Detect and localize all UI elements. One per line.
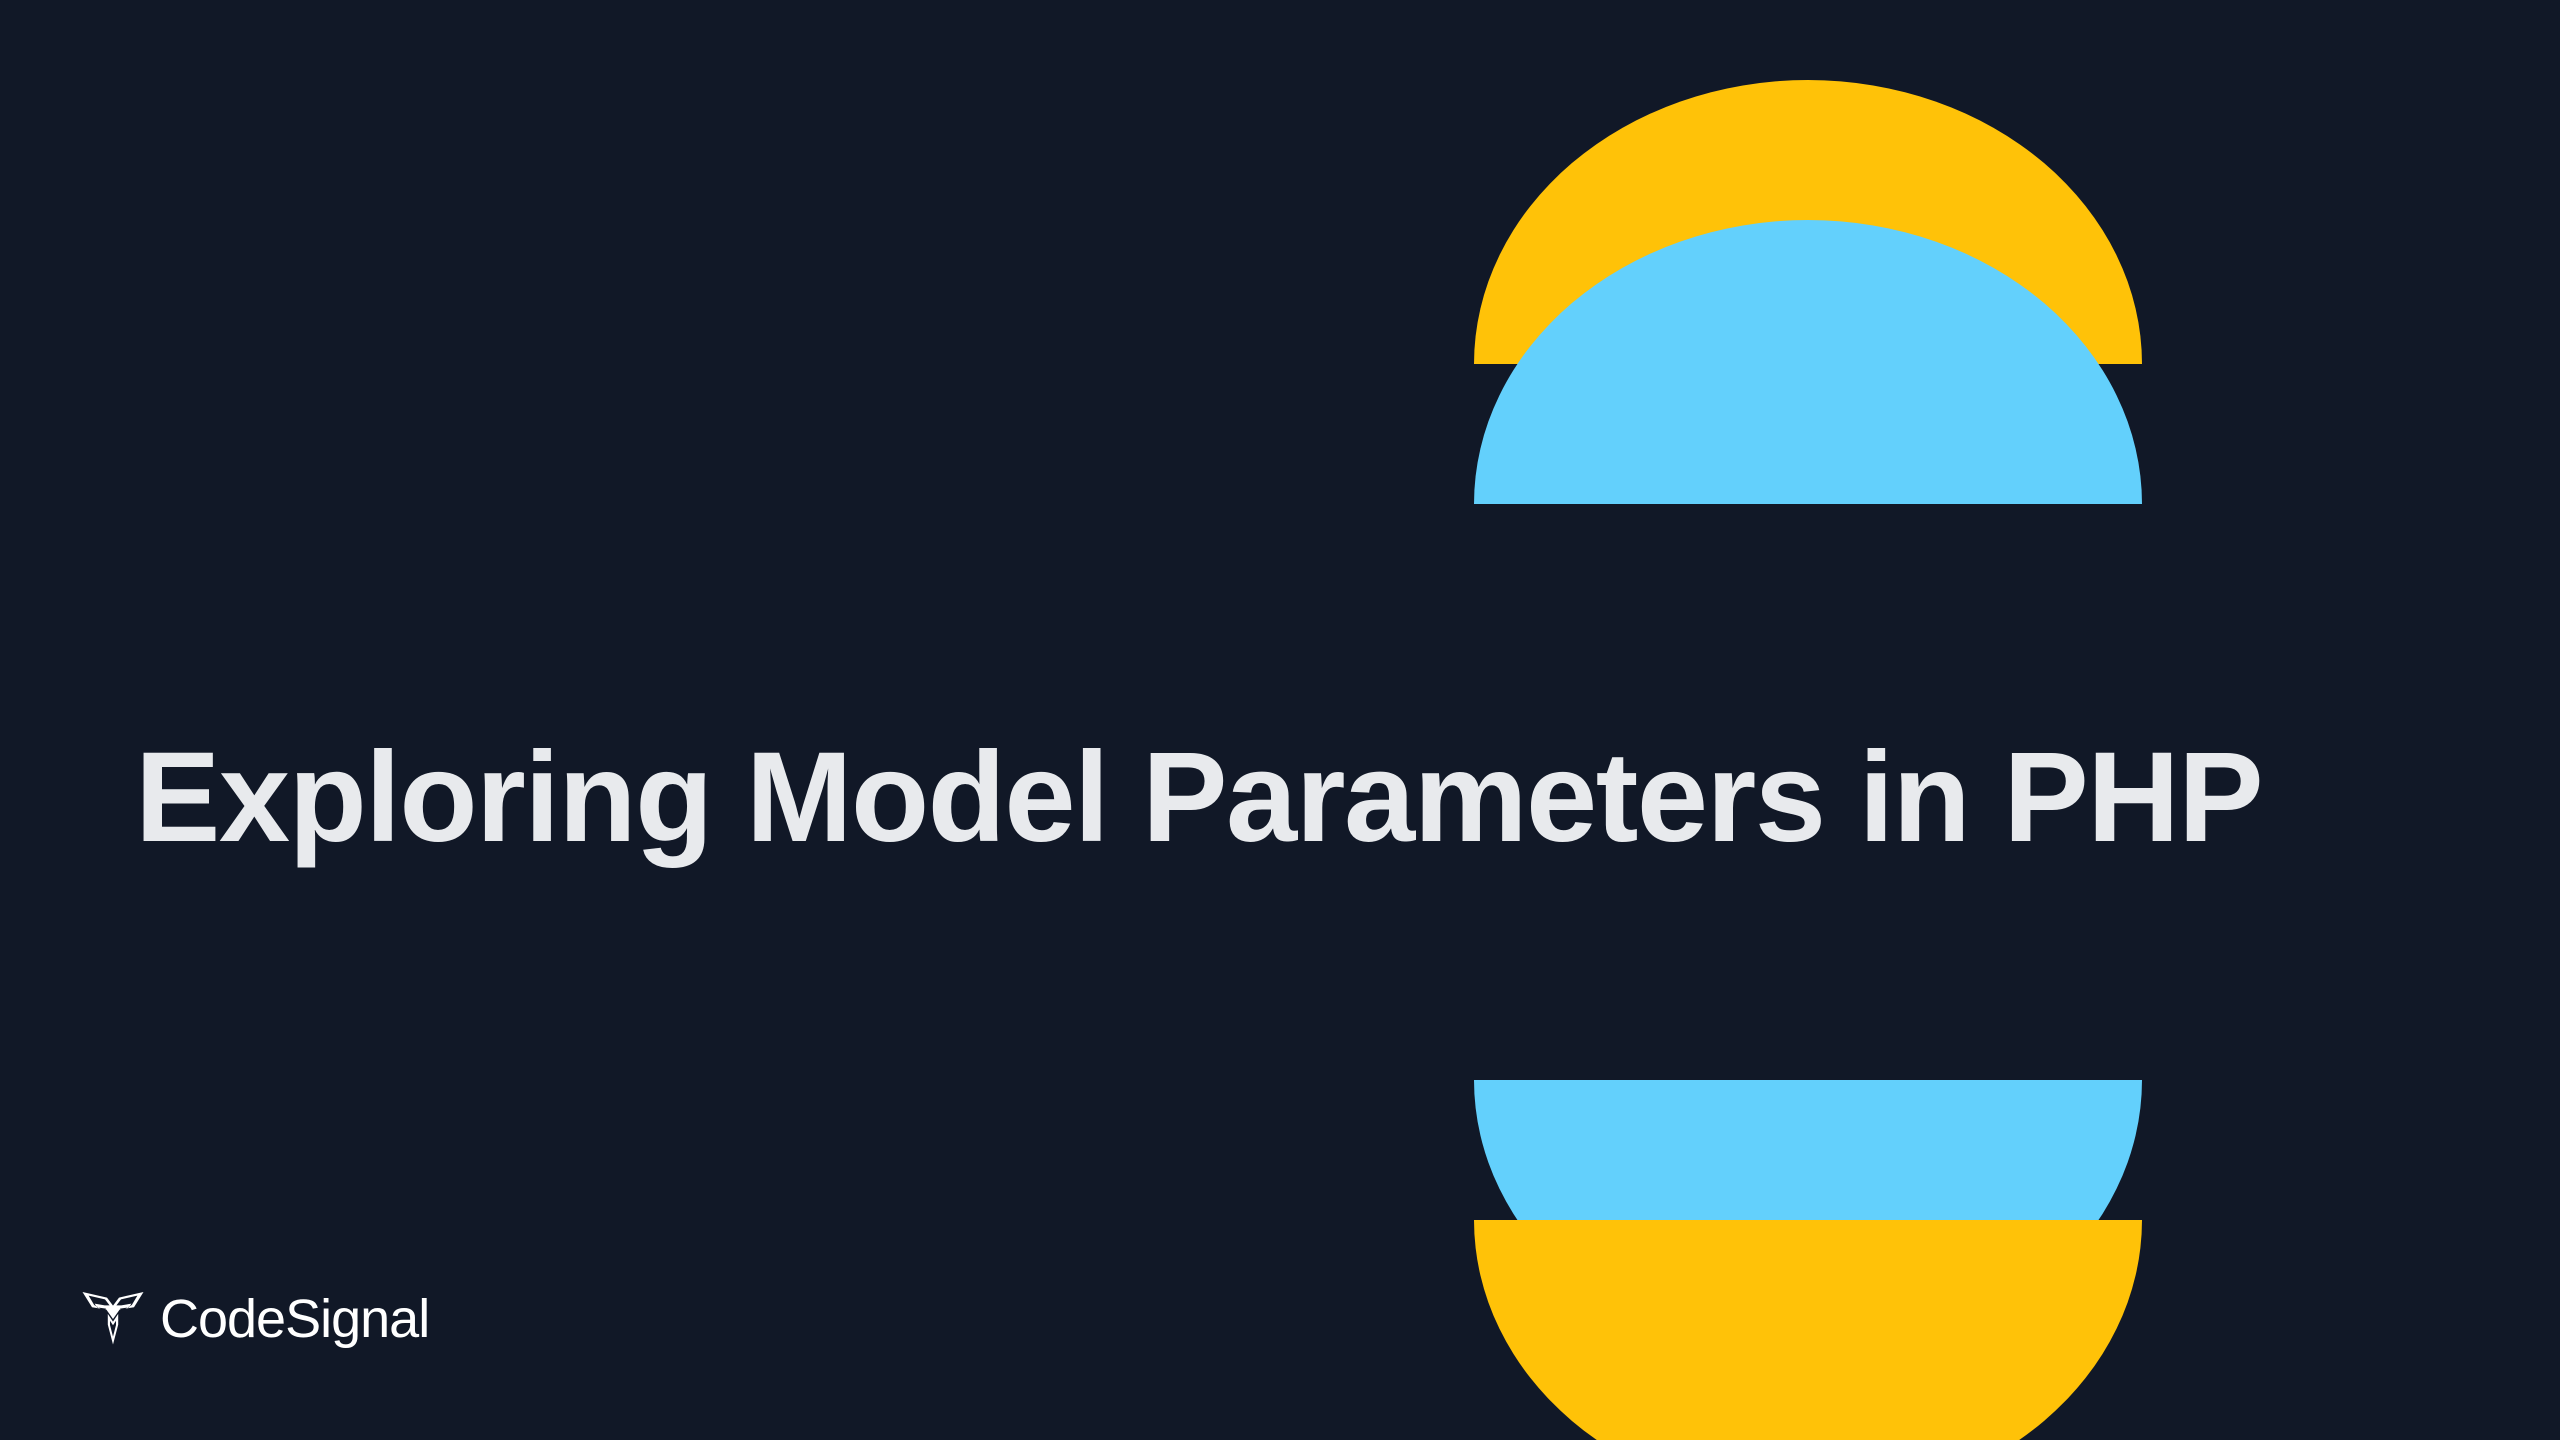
brand-name: CodeSignal [160,1292,429,1346]
arc-fill-yellow [1474,1220,2142,1440]
decorative-arc-bowl-yellow [1474,1220,2142,1440]
page-title: Exploring Model Parameters in PHP [135,724,2415,871]
decorative-arc-cluster-bottom [1474,1080,2142,1360]
decorative-arc-dome-yellow [1474,80,2142,364]
decorative-arc-dome-blue [1474,220,2142,504]
arc-fill-blue [1474,220,2142,504]
brand-logo: CodeSignal [82,1286,429,1350]
codesignal-wing-mark-icon [82,1291,144,1345]
decorative-arc-cluster-top [1474,80,2142,362]
arc-fill-yellow [1474,80,2142,364]
decorative-arc-bowl-blue [1474,1080,2142,1364]
title-slide: Exploring Model Parameters in PHP CodeSi… [0,0,2560,1440]
arc-fill-blue [1474,1080,2142,1364]
